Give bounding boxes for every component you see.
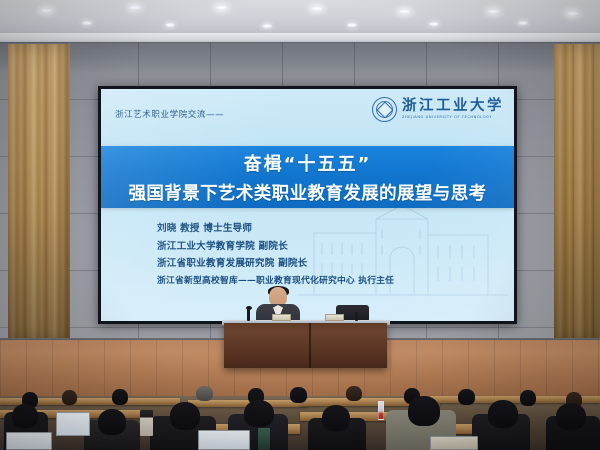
ceiling-downlight xyxy=(215,5,228,10)
audience-head xyxy=(98,409,126,435)
ceiling-downlight xyxy=(310,6,323,11)
university-logo: 浙江工业大学 ZHEJIANG UNIVERSITY OF TECHNOLOGY xyxy=(372,97,504,122)
slide-presenter-block: 刘晓 教授 博士生导师 浙江工业大学教育学院 副院长 浙江省职业教育发展研究院 … xyxy=(157,220,394,286)
audience-head xyxy=(322,405,350,431)
ceiling-downlight xyxy=(518,21,528,25)
ceiling-downlight xyxy=(40,8,53,13)
audience-head xyxy=(346,386,362,401)
curtain-right xyxy=(554,44,600,344)
audience-head xyxy=(458,389,475,405)
lecture-hall-photo: 浙江艺术职业学院交流—— 浙江工业大学 ZHEJIANG UNIVERSITY … xyxy=(0,0,600,450)
ceiling-downlight xyxy=(487,9,500,14)
lecture-table xyxy=(224,323,387,368)
lecture-table-seam xyxy=(309,323,311,368)
presenter-line: 浙江省新型高校智库——职业教育现代化研究中心 执行主任 xyxy=(157,273,394,286)
presenter-line: 浙江省职业教育发展研究院 副院长 xyxy=(157,255,394,269)
ceiling-downlight xyxy=(128,5,141,10)
ceiling-downlight xyxy=(398,9,411,14)
water-bottle xyxy=(378,400,384,420)
desk-microphone xyxy=(355,312,358,321)
audience-head xyxy=(244,400,274,427)
presenter-line: 浙江工业大学教育学院 副院长 xyxy=(157,238,394,252)
coffee-cup xyxy=(140,410,153,436)
presenter-line: 刘晓 教授 博士生导师 xyxy=(157,220,394,234)
audience-head xyxy=(520,390,536,406)
audience-head xyxy=(196,386,213,401)
curtain-left xyxy=(8,44,70,344)
name-card xyxy=(325,314,344,321)
audience-head xyxy=(62,390,77,405)
audience-head xyxy=(488,400,518,428)
ceiling-downlight xyxy=(347,23,357,27)
audience-head xyxy=(170,402,200,430)
audience-head xyxy=(290,387,307,403)
ceiling-downlight xyxy=(165,23,175,27)
ceiling-downlight xyxy=(566,11,579,16)
university-logo-text: 浙江工业大学 ZHEJIANG UNIVERSITY OF TECHNOLOGY xyxy=(402,99,504,120)
laptop xyxy=(198,430,250,450)
ceiling-downlight xyxy=(82,21,92,25)
university-name-en: ZHEJIANG UNIVERSITY OF TECHNOLOGY xyxy=(402,116,504,120)
desk-microphone xyxy=(247,309,250,321)
laptop xyxy=(430,436,478,450)
ceiling-downlight xyxy=(262,24,272,28)
slide-title-banner: 奋楫“十五五” 强国背景下艺术类职业教育发展的展望与思考 xyxy=(101,146,514,208)
slide-header-note: 浙江艺术职业学院交流—— xyxy=(115,108,224,120)
university-name-cn: 浙江工业大学 xyxy=(402,99,504,114)
slide-title-line2: 强国背景下艺术类职业教育发展的展望与思考 xyxy=(129,180,487,205)
audience-head xyxy=(112,389,128,405)
laptop-screen xyxy=(56,412,90,436)
projection-screen: 浙江艺术职业学院交流—— 浙江工业大学 ZHEJIANG UNIVERSITY … xyxy=(101,89,514,321)
university-emblem-icon xyxy=(372,97,397,122)
audience-head xyxy=(408,396,440,426)
audience-head xyxy=(556,403,586,430)
thermos xyxy=(258,428,270,450)
projection-screen-frame: 浙江艺术职业学院交流—— 浙江工业大学 ZHEJIANG UNIVERSITY … xyxy=(98,86,517,324)
desk-microphone xyxy=(246,306,252,310)
audience-head xyxy=(12,404,38,428)
slide-title-line1: 奋楫“十五五” xyxy=(244,150,372,176)
laptop xyxy=(6,432,52,450)
slide-header: 浙江艺术职业学院交流—— 浙江工业大学 ZHEJIANG UNIVERSITY … xyxy=(101,89,514,141)
name-card xyxy=(272,314,291,321)
ceiling-downlight xyxy=(429,22,439,26)
